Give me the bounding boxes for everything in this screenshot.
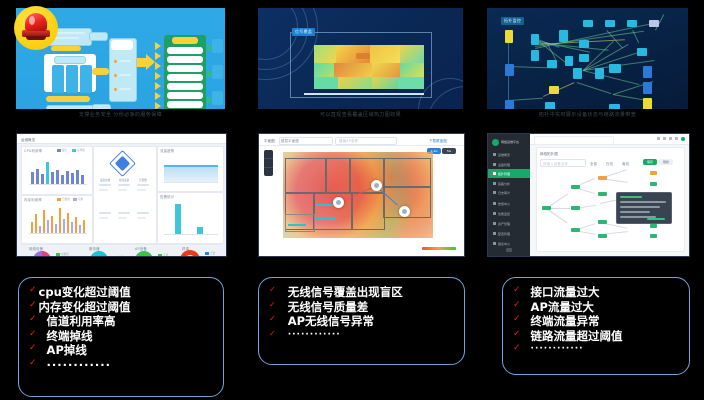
donut-chart-1	[90, 251, 108, 257]
topology-node[interactable]	[531, 50, 539, 61]
list-item: ✓终端流量异常	[513, 315, 683, 329]
tree-leaf[interactable]	[650, 224, 657, 228]
tree-leaf[interactable]	[650, 182, 657, 186]
coverage-tag: 信号覆盖	[292, 28, 315, 36]
sidebar-item-4[interactable]: 日志审计	[488, 188, 530, 197]
topology-node[interactable]	[595, 68, 604, 79]
tree-node-root[interactable]	[542, 206, 551, 210]
check-icon: ✓	[269, 330, 276, 338]
filter-offline[interactable]: 离线	[622, 161, 629, 166]
list-item: ✓内存变化超过阈值	[29, 301, 217, 315]
topology-node[interactable]	[609, 64, 621, 73]
device-search-placeholder: 请输入设备名称	[543, 161, 568, 166]
tree-node[interactable]	[571, 185, 580, 189]
sidebar-item-3[interactable]: 链路分析	[488, 179, 530, 188]
topology-node[interactable]	[583, 20, 593, 27]
memory-legend-0: 已使用	[62, 197, 70, 201]
callout-performance: ✓cpu变化超过阈值 ✓内存变化超过阈值 ✓信道利用率高 ✓终端掉线 ✓AP掉线…	[18, 277, 224, 397]
topology-node[interactable]	[549, 86, 559, 94]
check-icon: ✓	[29, 315, 37, 324]
callout-item-text: AP流量过大	[531, 301, 594, 315]
sidebar-label: 告警中心	[498, 202, 510, 206]
page-title: 网络拓扑图	[540, 151, 558, 156]
band-toggle-5g[interactable]: 5G	[442, 148, 456, 154]
callout-item-text: 终端掉线	[47, 330, 93, 344]
callout-item-text: 链路流量超过阈值	[531, 330, 623, 344]
list-item: ✓AP流量过大	[513, 301, 683, 315]
check-icon: ✓	[269, 286, 276, 294]
check-icon: ✓	[513, 301, 521, 310]
check-icon: ✓	[29, 344, 37, 353]
toolbar-icon-4[interactable]	[675, 137, 678, 140]
sidebar-label: 链路分析	[498, 182, 510, 186]
topology-node[interactable]	[505, 30, 513, 43]
callout-item-text: cpu变化超过阈值	[39, 286, 131, 300]
traffic-card-title: 流量趋势	[160, 148, 174, 153]
sidebar-item-9[interactable]: 报表中心	[488, 239, 530, 248]
sidebar-item-1[interactable]: 设备管理	[488, 160, 530, 169]
coverage-heatmap	[314, 45, 424, 89]
callout-wireless: ✓无线信号覆盖出现盲区 ✓无线信号质量差 ✓AP无线信号异常 ✓········…	[258, 277, 465, 365]
topology-node[interactable]	[505, 64, 514, 76]
donut-legend-2-0: 正常	[163, 253, 168, 257]
check-icon: ✓	[29, 286, 37, 295]
sidebar-label: 性能监控	[498, 212, 510, 216]
sidebar-item-7[interactable]: 资产管理	[488, 219, 530, 228]
flow-tag-2	[46, 96, 90, 102]
wifi-heatmap-slide[interactable]: 信号覆盖 可以直观查看覆盖区域热力图效果	[258, 8, 463, 120]
topology-node[interactable]	[547, 60, 557, 68]
list-item: ✓············	[29, 359, 217, 373]
check-icon: ✓	[29, 359, 37, 368]
callout-item-text: 内存变化超过阈值	[39, 301, 131, 315]
callout-item-text: AP掉线	[47, 344, 87, 358]
list-item: ✓············	[513, 344, 683, 355]
callout-item-text: AP无线信号异常	[288, 315, 374, 329]
strategy-title	[172, 37, 198, 44]
check-icon: ✓	[513, 330, 521, 339]
sidebar-label: 资产管理	[498, 222, 510, 226]
check-icon: ✓	[513, 286, 521, 295]
filter-all[interactable]: 全部	[590, 161, 597, 166]
callout-item-text: ············	[47, 359, 111, 373]
topology-node[interactable]	[579, 40, 589, 48]
check-icon: ✓	[513, 344, 521, 353]
sidebar-label: 报表中心	[498, 242, 510, 246]
topology-node[interactable]	[531, 34, 539, 45]
callout-list: ✓cpu变化超过阈值 ✓内存变化超过阈值 ✓信道利用率高 ✓终端掉线 ✓AP掉线…	[29, 286, 217, 373]
topology-node[interactable]	[637, 48, 647, 56]
list-item: ✓无线信号覆盖出现盲区	[269, 286, 458, 300]
list-item: ✓信道利用率高	[29, 315, 217, 329]
list-item: ✓AP无线信号异常	[269, 315, 458, 329]
topology-node[interactable]	[573, 68, 582, 79]
callout-item-text: 终端流量异常	[531, 315, 600, 329]
topology-app[interactable]: 网络运维平台 运维概览 设备管理 拓扑管理 链路分析 日志审计 告警中心 性能监…	[487, 133, 690, 257]
flow-tag-1	[51, 46, 81, 51]
refresh-button[interactable]: 刷新	[659, 159, 673, 165]
sidebar-item-5[interactable]: 告警中心	[488, 199, 530, 208]
sidebar-item-8[interactable]: 配置管理	[488, 229, 530, 238]
callout-item-text: 无线信号质量差	[288, 301, 369, 315]
alarm-card-title: 告警统计	[160, 194, 174, 199]
topology-node[interactable]	[605, 20, 615, 27]
topology-node[interactable]	[643, 66, 652, 78]
event-title	[111, 40, 133, 50]
ap-marker[interactable]	[371, 180, 382, 191]
topology-node[interactable]	[565, 56, 573, 66]
cpu-legend-0: 最大	[62, 148, 67, 152]
sidebar-label: 拓扑管理	[498, 172, 510, 176]
callout-traffic: ✓接口流量过大 ✓AP流量过大 ✓终端流量异常 ✓链路流量超过阈值 ✓·····…	[502, 277, 690, 375]
ap-marker[interactable]	[333, 197, 344, 208]
topology-node[interactable]	[559, 30, 568, 42]
kpi-label-0: 设备总数	[96, 178, 114, 182]
alarm-card	[157, 192, 224, 244]
sidebar-item-0[interactable]: 运维概览	[488, 150, 530, 159]
check-icon: ✓	[513, 315, 521, 324]
check-icon: ✓	[269, 301, 276, 309]
tree-node[interactable]	[571, 206, 580, 210]
dashboard-title: 运维概览	[21, 137, 35, 142]
sidebar-label: 设备管理	[498, 163, 510, 167]
tree-node[interactable]	[598, 220, 607, 224]
ap-marker[interactable]	[399, 206, 410, 217]
kpi-label-2: 告警数	[134, 178, 152, 182]
topology-tag: 拓扑监控	[501, 17, 524, 25]
floorplan-heatmap[interactable]: 平面图 楼层平面图 搜索AP名称 下载覆盖图 2.4G 5G	[258, 133, 465, 257]
alarm-siren-icon	[14, 6, 58, 50]
tree-leaf[interactable]	[650, 234, 657, 238]
donut-chart-2	[135, 251, 153, 257]
sidebar-label: 日志审计	[498, 191, 510, 195]
download-coverage-button[interactable]: 下载覆盖图	[429, 138, 447, 143]
kpi-label-1: 在线设备	[115, 178, 133, 182]
sidebar-label: 配置管理	[498, 232, 510, 236]
sidebar-collapse-button[interactable]	[506, 248, 512, 252]
dashboard-titlebar	[17, 134, 226, 144]
ops-dashboard[interactable]: 运维概览 CPU利用率 最大 平均值 内存利用率 已使用 可用	[16, 133, 227, 257]
signal-legend-scale	[422, 247, 456, 250]
tree-node[interactable]	[571, 228, 580, 232]
app-content: 拓扑发现 网络拓扑图 请输入设备名称 全部 在线 离线 保存 刷新	[530, 134, 689, 256]
list-item: ✓无线信号质量差	[269, 301, 458, 315]
check-icon: ✓	[29, 330, 37, 339]
callout-item-text: 接口流量过大	[531, 286, 600, 300]
memory-card-title: 内存利用率	[24, 197, 42, 202]
tree-node-warning[interactable]	[598, 176, 607, 180]
callout-list: ✓无线信号覆盖出现盲区 ✓无线信号质量差 ✓AP无线信号异常 ✓········…	[269, 286, 458, 341]
sidebar-item-2-selected[interactable]: 拓扑管理	[488, 169, 530, 178]
slide-caption: 支撑业务安全 分秒必争的服务保障	[16, 109, 225, 120]
floorplan-select-label: 平面图	[264, 138, 275, 143]
floorplan-canvas[interactable]	[283, 152, 433, 238]
brand-logo-icon	[492, 139, 499, 146]
cpu-legend-1: 平均值	[77, 148, 85, 152]
floorplan-tool-palette[interactable]	[264, 150, 273, 176]
donut-legend-3-0: 正常	[210, 251, 215, 255]
topology-node[interactable]	[579, 54, 589, 62]
network-topology-slide[interactable]: 拓扑监控	[487, 8, 688, 120]
list-item: ✓终端掉线	[29, 330, 217, 344]
list-item: ✓············	[269, 330, 458, 341]
slide-canvas: 支撑业务安全 分秒必争的服务保障 信号覆盖	[0, 0, 704, 400]
donut-legend-3-1: 异常	[210, 256, 215, 257]
tree-node[interactable]	[598, 234, 607, 238]
callout-item-text: ············	[531, 344, 584, 355]
topology-node[interactable]	[627, 20, 637, 27]
list-item: ✓cpu变化超过阈值	[29, 286, 217, 300]
save-button[interactable]: 保存	[643, 159, 657, 165]
floorplan-select-value: 楼层平面图	[281, 138, 299, 143]
slide-caption: 拓扑中实时展示设备状态与链路流量带宽	[487, 109, 688, 120]
user-avatar[interactable]	[681, 137, 685, 141]
app-sidebar: 网络运维平台 运维概览 设备管理 拓扑管理 链路分析 日志审计 告警中心 性能监…	[488, 134, 530, 256]
slide-caption: 可以直观查看覆盖区域热力图效果	[258, 109, 463, 120]
callout-item-text: ············	[288, 330, 341, 341]
callout-list: ✓接口流量过大 ✓AP流量过大 ✓终端流量异常 ✓链路流量超过阈值 ✓·····…	[513, 286, 683, 356]
flow-arrow-label-2	[92, 68, 109, 75]
callout-item-text: 无线信号覆盖出现盲区	[288, 286, 403, 300]
toolbar-icon-3[interactable]	[669, 137, 672, 140]
it-resource-title	[54, 56, 86, 64]
tree-node[interactable]	[598, 192, 607, 196]
flow-arrow-label-1	[89, 32, 108, 41]
callout-item-text: 信道利用率高	[47, 315, 116, 329]
memory-legend-1: 可用	[78, 197, 83, 201]
filter-online[interactable]: 在线	[606, 161, 613, 166]
topology-node[interactable]	[649, 20, 659, 27]
donut-legend-0-1: 路由器	[61, 256, 69, 257]
brand-name: 网络运维平台	[501, 140, 519, 144]
list-item: ✓AP掉线	[29, 344, 217, 358]
list-item: ✓链路流量超过阈值	[513, 330, 683, 344]
ap-search-placeholder: 搜索AP名称	[339, 138, 358, 143]
sidebar-label: 运维概览	[498, 153, 510, 157]
device-tooltip	[616, 192, 672, 224]
topology-node[interactable]	[643, 82, 652, 94]
cpu-card-title: CPU利用率	[24, 148, 42, 153]
donut-chart-0	[33, 251, 51, 257]
check-icon: ✓	[269, 315, 276, 323]
list-item: ✓接口流量过大	[513, 286, 683, 300]
toolbar-icon-2[interactable]	[663, 137, 666, 140]
tree-leaf-warning[interactable]	[650, 171, 657, 175]
check-icon: ✓	[29, 301, 37, 310]
toolbar-icon-1[interactable]	[657, 137, 660, 140]
sidebar-item-6[interactable]: 性能监控	[488, 209, 530, 218]
donut-legend-1-0: 在线	[118, 255, 123, 257]
